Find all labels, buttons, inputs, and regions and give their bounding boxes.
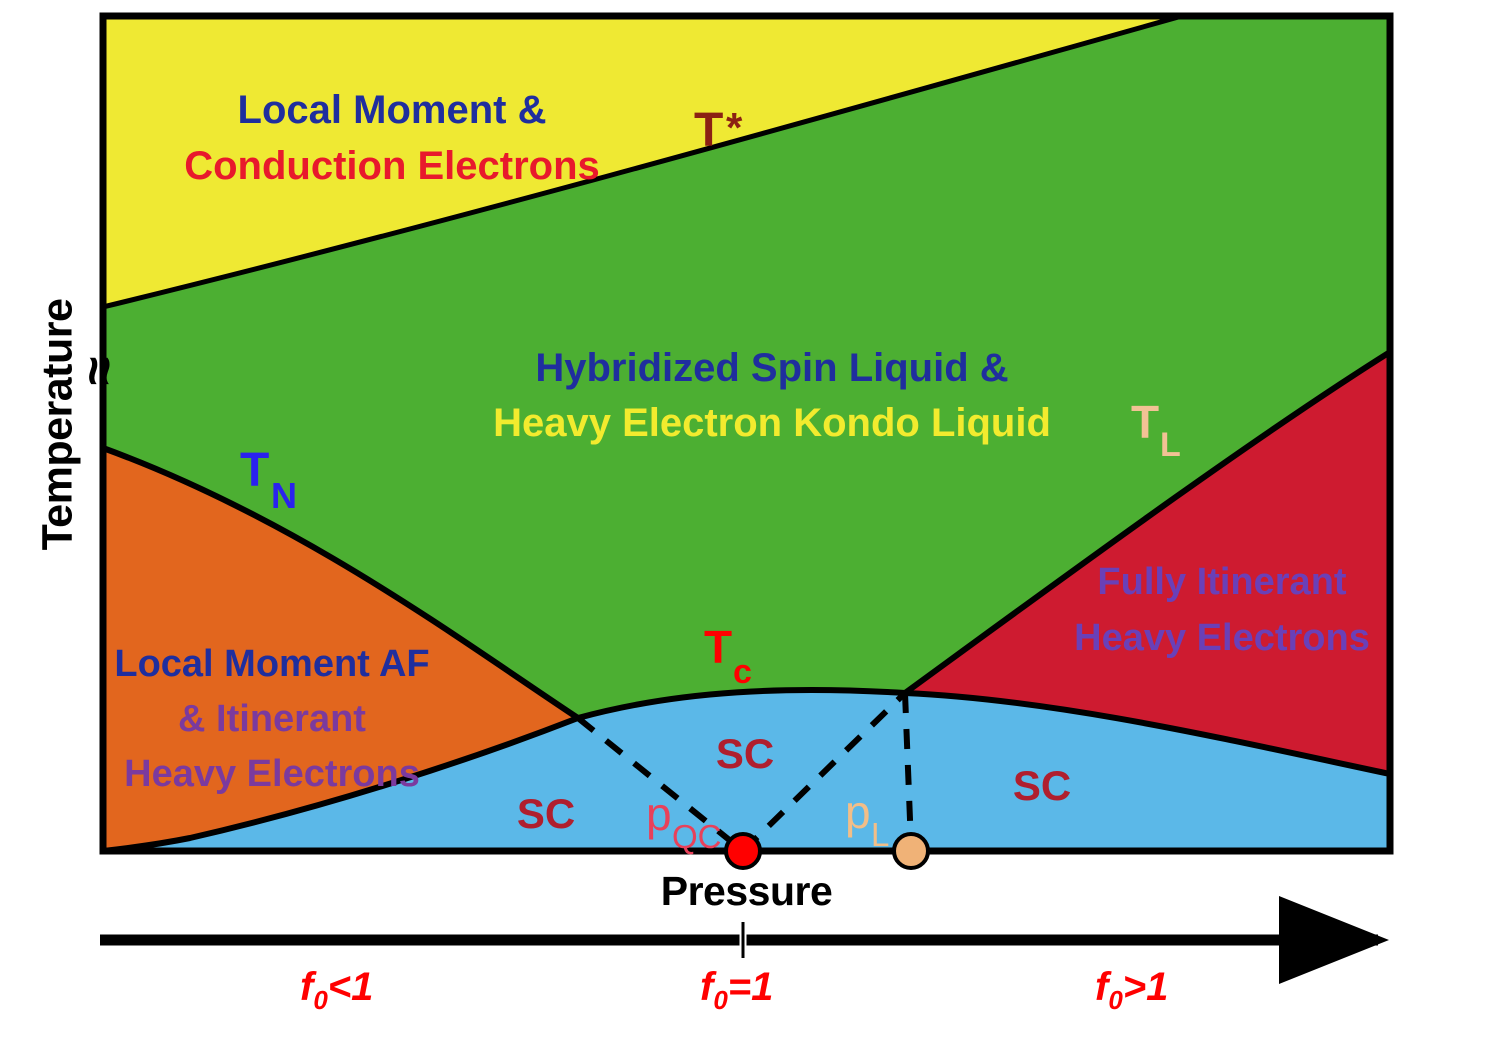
tick-label-f0-less-than-1: f0<1 xyxy=(300,965,373,1016)
phase-diagram-figure: Local Moment & Conduction Electrons Hybr… xyxy=(0,0,1497,1040)
critical-point-p-qc-dot[interactable] xyxy=(726,834,760,868)
label-hybridized-line1: Hybridized Spin Liquid & xyxy=(535,346,1008,390)
x-axis-label: Pressure xyxy=(103,868,1390,915)
tick-label-f0-greater-than-1: f0>1 xyxy=(1095,965,1168,1016)
t-l-base: T xyxy=(1131,396,1159,448)
p-l-subscript: L xyxy=(871,816,889,853)
axis-break-icon: ≈ xyxy=(73,357,125,386)
t-star-superscript: * xyxy=(726,104,743,151)
y-axis-label: Temperature xyxy=(34,255,83,595)
t-neel-subscript: N xyxy=(271,475,297,516)
label-hybridized-line2: Heavy Electron Kondo Liquid xyxy=(493,401,1051,445)
f0-gt-base: f xyxy=(1095,965,1108,1009)
f0-gt-relation: >1 xyxy=(1123,965,1169,1009)
tick-label-f0-equals-1: f0=1 xyxy=(700,965,773,1016)
label-af-line2: & Itinerant xyxy=(178,698,366,740)
p-qc-base: p xyxy=(646,788,672,840)
bottom-pressure-axis xyxy=(100,920,1378,960)
f0-lt-base: f xyxy=(300,965,313,1009)
label-fully-itinerant-line1: Fully Itinerant xyxy=(1097,561,1346,603)
f0-eq-relation: =1 xyxy=(728,965,774,1009)
critical-point-p-l-dot[interactable] xyxy=(894,834,928,868)
sc-label-right: SC xyxy=(1013,762,1071,809)
t-c-subscript: c xyxy=(733,653,752,691)
t-star-base: T xyxy=(694,104,723,157)
t-neel-base: T xyxy=(240,444,269,497)
sc-label-left: SC xyxy=(517,790,575,837)
label-local-moment-line1: Local Moment & xyxy=(238,88,547,132)
label-fully-itinerant-line2: Heavy Electrons xyxy=(1074,617,1370,659)
f0-gt-subscript: 0 xyxy=(1108,985,1122,1015)
p-qc-subscript: QC xyxy=(672,818,722,855)
f0-lt-relation: <1 xyxy=(328,965,374,1009)
f0-eq-base: f xyxy=(700,965,713,1009)
p-l-base: p xyxy=(845,786,871,838)
f0-eq-subscript: 0 xyxy=(713,985,727,1015)
label-local-moment-line2: Conduction Electrons xyxy=(184,144,600,188)
label-af-line3: Heavy Electrons xyxy=(124,753,420,795)
label-af-line1: Local Moment AF xyxy=(114,643,429,685)
sc-label-center: SC xyxy=(716,730,774,777)
t-l-subscript: L xyxy=(1160,426,1181,464)
f0-lt-subscript: 0 xyxy=(313,985,327,1015)
t-c-base: T xyxy=(704,621,732,673)
label-t-star: T * xyxy=(694,104,743,157)
